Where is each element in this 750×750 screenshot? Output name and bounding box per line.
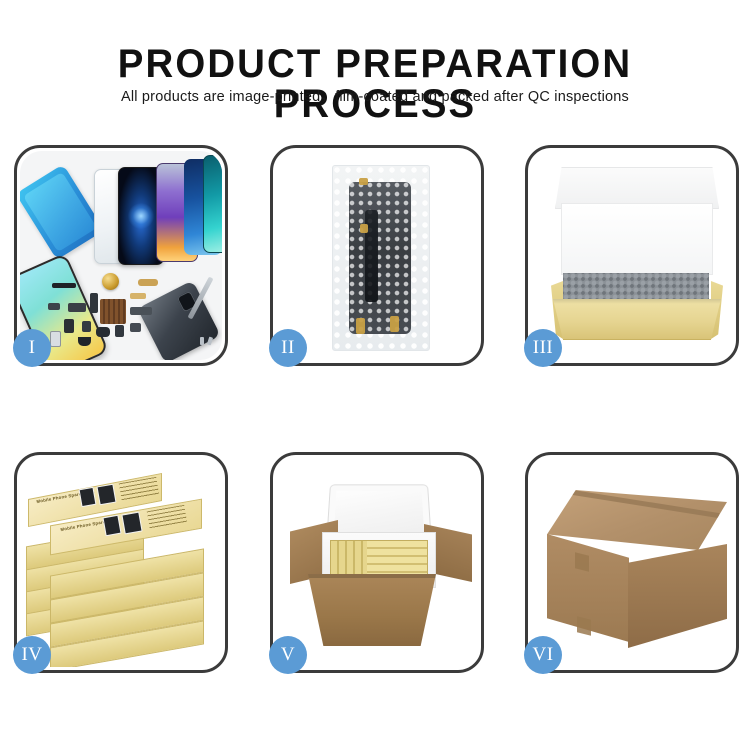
- packed-yellow-boxes-graphic: [330, 540, 428, 578]
- component-graphic: [130, 307, 152, 315]
- component-graphic: [78, 337, 91, 346]
- step-badge-6: VI: [524, 636, 562, 674]
- box-label-window: [121, 512, 142, 535]
- component-graphic: [130, 323, 141, 332]
- step-badge-5: V: [269, 636, 307, 674]
- step-3-illustration: [531, 151, 733, 360]
- connector-graphic: [360, 224, 368, 233]
- carton-tape-graphic: [575, 552, 589, 571]
- wrapped-part-graphic: [349, 182, 411, 334]
- carton-top-graphic: [547, 490, 727, 550]
- connector-graphic: [359, 178, 368, 185]
- component-graphic: [115, 325, 124, 337]
- process-step-6: VI: [525, 452, 739, 673]
- component-graphic: [50, 331, 61, 347]
- component-graphic: [90, 293, 98, 313]
- component-graphic: [48, 303, 60, 310]
- vibration-motor-graphic: [102, 273, 119, 290]
- connector-graphic: [356, 318, 365, 334]
- component-graphic: [52, 283, 76, 288]
- box-label-window: [79, 487, 97, 507]
- yellow-box-base-graphic: [553, 299, 721, 340]
- step-badge-3: III: [524, 329, 562, 367]
- component-graphic: [64, 319, 74, 333]
- carton-side-graphic: [628, 544, 727, 648]
- process-step-5: V: [270, 452, 484, 673]
- step-badge-1: I: [13, 329, 51, 367]
- process-step-grid: I II: [0, 0, 750, 750]
- step-badge-2: II: [269, 329, 307, 367]
- process-step-4: Mobile Phone Spare Parts Mobile Phone Sp…: [14, 452, 228, 673]
- foam-sheet-graphic: [561, 203, 713, 275]
- antistatic-padding-graphic: [563, 273, 709, 301]
- teal-phone-graphic: [203, 155, 222, 253]
- step-badge-4: IV: [13, 636, 51, 674]
- phone-back-housing-graphic: [137, 280, 220, 360]
- screws-graphic: [200, 337, 216, 345]
- connector-graphic: [390, 316, 399, 332]
- component-graphic: [96, 327, 110, 337]
- process-step-1: I: [14, 145, 228, 366]
- step-2-illustration: [276, 151, 478, 360]
- component-graphic: [138, 279, 158, 286]
- carton-tape-graphic: [577, 616, 591, 635]
- adhesive-sheet-graphic: [20, 164, 104, 260]
- step-4-illustration: Mobile Phone Spare Parts Mobile Phone Sp…: [20, 458, 222, 667]
- box-label-window: [102, 515, 121, 536]
- step-5-illustration: [276, 458, 478, 667]
- process-step-2: II: [270, 145, 484, 366]
- box-label-window: [96, 484, 116, 506]
- chip-array-graphic: [100, 299, 126, 324]
- bubble-wrap-bag-graphic: [332, 165, 430, 351]
- component-graphic: [130, 293, 146, 299]
- step-1-illustration: [20, 151, 222, 360]
- box-stack-graphic: Mobile Phone Spare Parts Mobile Phone Sp…: [20, 458, 222, 667]
- step-6-illustration: [531, 458, 733, 667]
- component-graphic: [82, 321, 91, 332]
- product-preparation-infographic: PRODUCT PREPARATION PROCESS All products…: [0, 0, 750, 750]
- component-graphic: [68, 303, 86, 312]
- process-step-3: III: [525, 145, 739, 366]
- carton-body-graphic: [308, 574, 436, 646]
